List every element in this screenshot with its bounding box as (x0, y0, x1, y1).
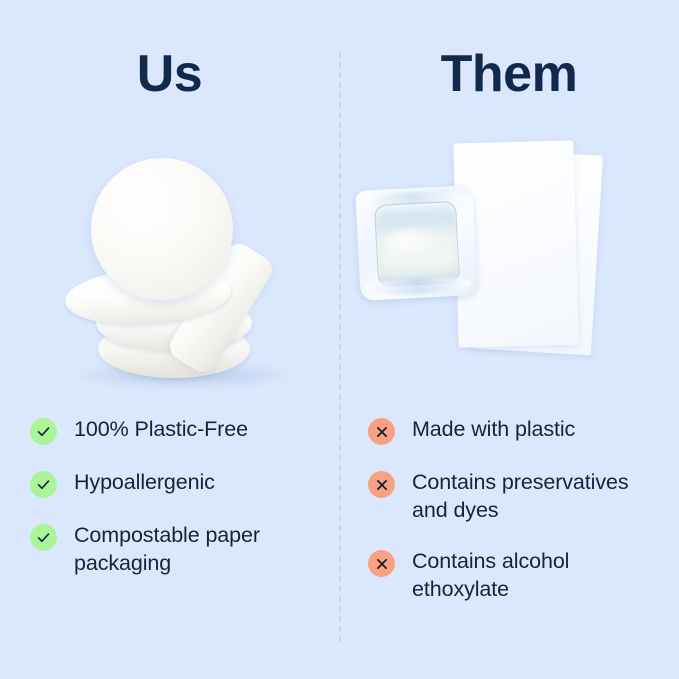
product-image-us (0, 130, 339, 400)
check-icon (30, 418, 57, 445)
list-item-label: Compostable paper packaging (74, 522, 330, 577)
list-item: Hypoallergenic (30, 469, 330, 498)
cross-icon (368, 471, 395, 498)
drawbacks-list-them: Made with plastic Contains preservatives… (368, 416, 668, 627)
list-item: Contains preservatives and dyes (368, 469, 668, 524)
list-item-label: Hypoallergenic (74, 469, 215, 497)
cross-icon (368, 418, 395, 445)
column-heading-us: Us (0, 48, 339, 100)
benefits-list-us: 100% Plastic-Free Hypoallergenic Compost… (30, 416, 330, 601)
list-item: Compostable paper packaging (30, 522, 330, 577)
cross-icon (368, 550, 395, 577)
list-item-label: 100% Plastic-Free (74, 416, 248, 444)
list-item-label: Contains preservatives and dyes (412, 469, 668, 524)
plastic-pod (355, 185, 478, 301)
tablet-disc-face (91, 158, 233, 300)
list-item: 100% Plastic-Free (30, 416, 330, 445)
list-item: Made with plastic (368, 416, 668, 445)
check-icon (30, 524, 57, 551)
comparison-graphic: Us Them 100% Plasti (0, 0, 679, 679)
list-item-label: Contains alcohol ethoxylate (412, 548, 668, 603)
product-image-them (339, 130, 679, 400)
column-heading-them: Them (339, 48, 679, 100)
check-icon (30, 471, 57, 498)
list-item: Contains alcohol ethoxylate (368, 548, 668, 603)
list-item-label: Made with plastic (412, 416, 575, 444)
